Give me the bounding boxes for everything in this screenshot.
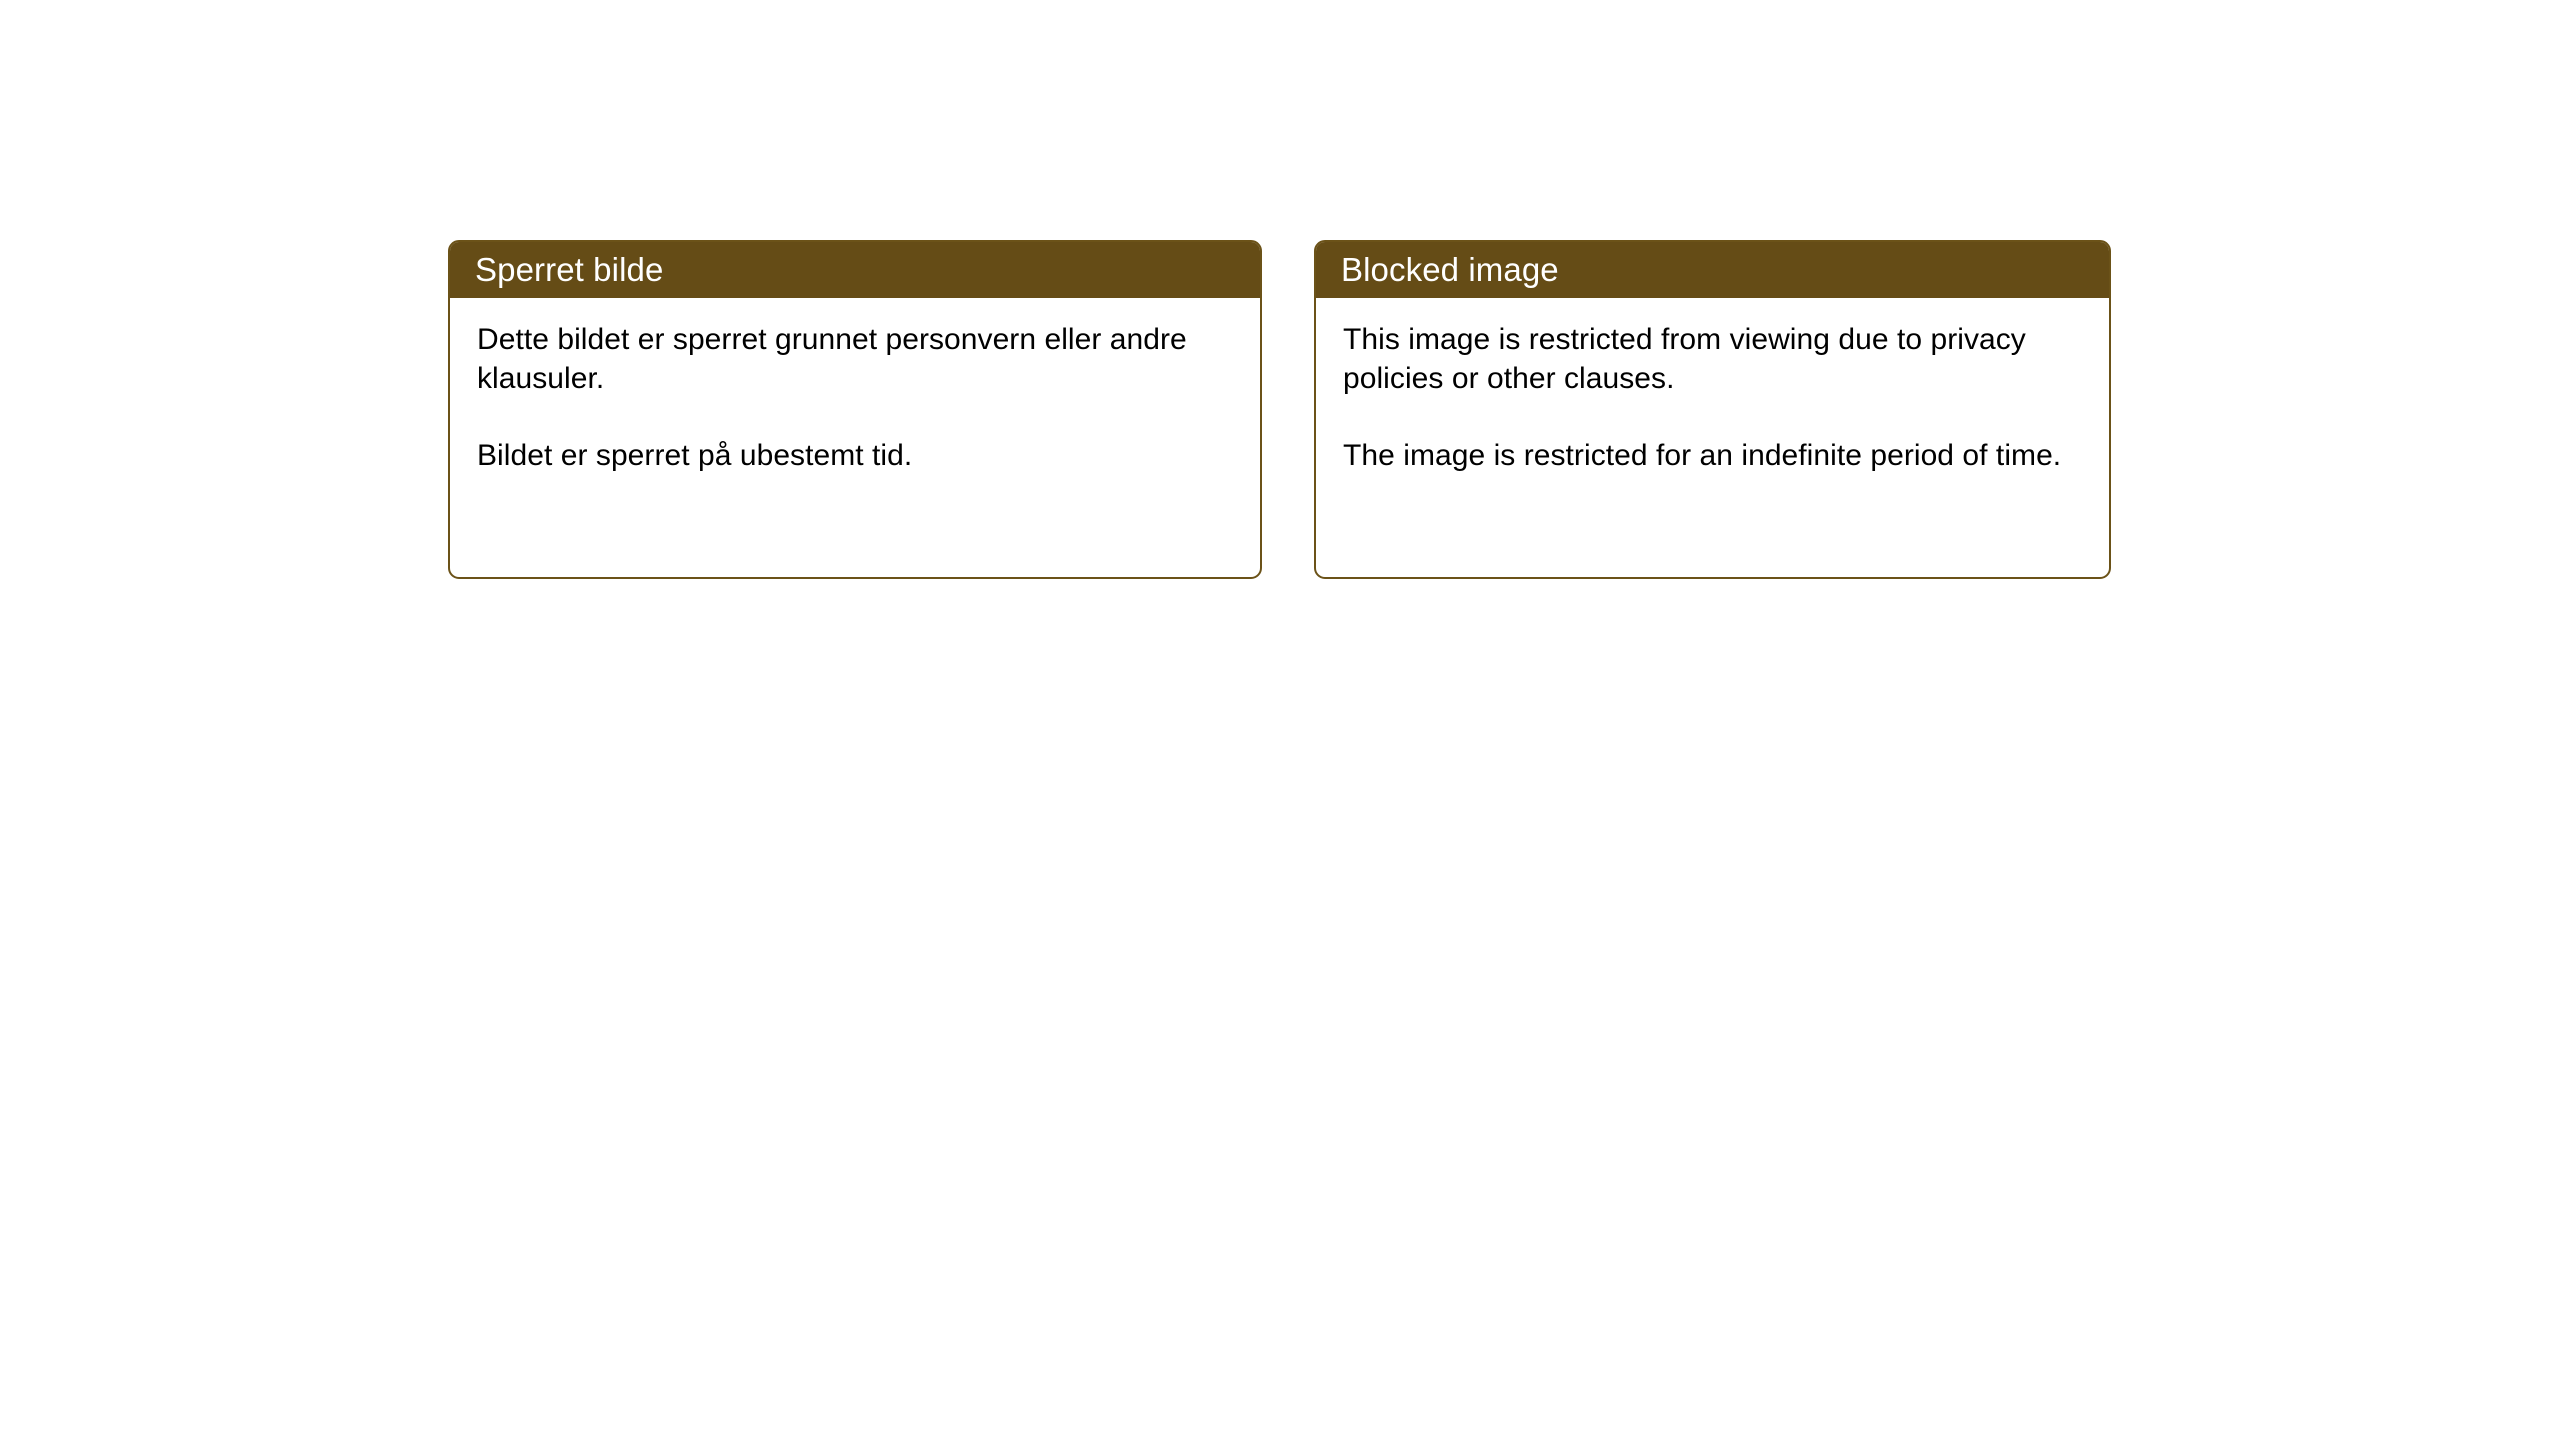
blocked-image-panel-norwegian: Sperret bilde Dette bildet er sperret gr…: [448, 240, 1262, 579]
panel-body-norwegian: Dette bildet er sperret grunnet personve…: [450, 298, 1260, 577]
blocked-image-notice-area: Sperret bilde Dette bildet er sperret gr…: [448, 240, 2111, 579]
panel-title-norwegian: Sperret bilde: [448, 240, 1262, 298]
panel-paragraph-duration-english: The image is restricted for an indefinit…: [1343, 436, 2085, 475]
panel-paragraph-privacy-english: This image is restricted from viewing du…: [1343, 320, 2085, 398]
panel-title-english: Blocked image: [1314, 240, 2111, 298]
panel-body-english: This image is restricted from viewing du…: [1316, 298, 2109, 577]
panel-paragraph-privacy-norwegian: Dette bildet er sperret grunnet personve…: [477, 320, 1236, 398]
panel-paragraph-duration-norwegian: Bildet er sperret på ubestemt tid.: [477, 436, 1236, 475]
blocked-image-panel-english: Blocked image This image is restricted f…: [1314, 240, 2111, 579]
